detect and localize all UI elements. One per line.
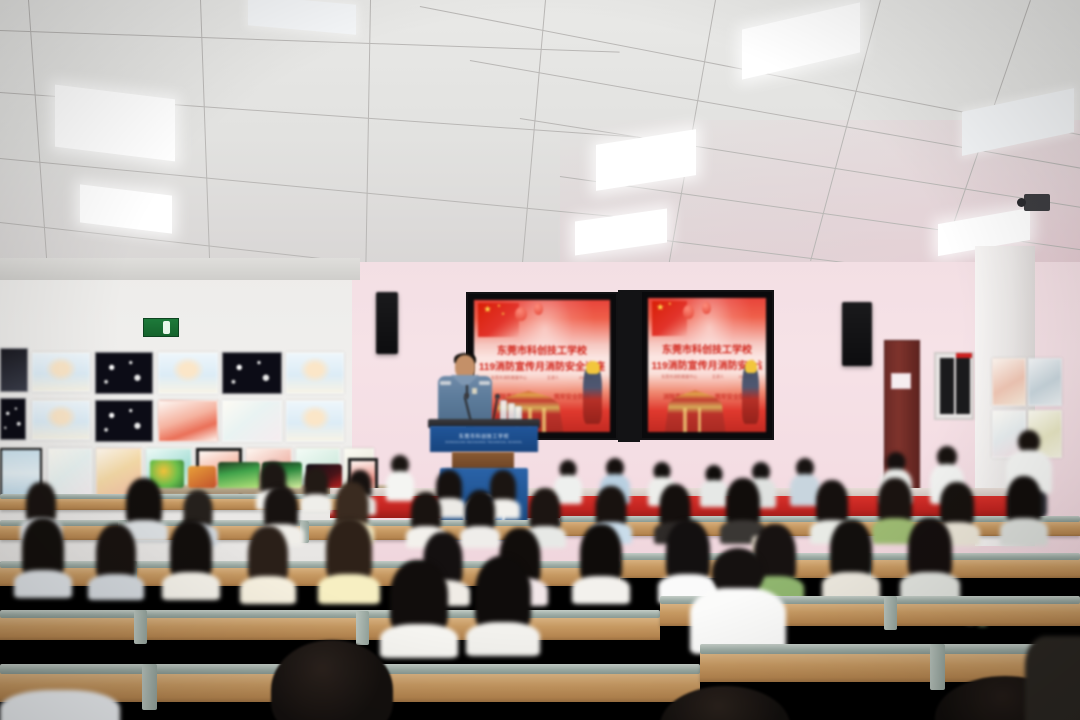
student-artwork xyxy=(222,352,282,394)
student-artwork xyxy=(95,400,153,442)
audience-member xyxy=(1000,476,1048,544)
balloon-decoration xyxy=(515,307,527,322)
torso xyxy=(466,622,540,656)
wall-speaker-right xyxy=(842,302,872,366)
student-artwork xyxy=(286,400,344,442)
ceiling-camera-icon xyxy=(1024,194,1050,211)
audience-member xyxy=(318,518,380,600)
bench-rail xyxy=(0,610,660,618)
audience-member xyxy=(466,556,540,654)
door-notice xyxy=(891,373,911,389)
left-wall-soffit xyxy=(0,258,360,280)
microphone-head xyxy=(495,394,500,399)
torso xyxy=(572,576,630,604)
slide-meta-speaker: 主讲人 xyxy=(547,375,559,381)
firefighter-helmet xyxy=(586,361,600,374)
bench-rail xyxy=(700,644,1080,654)
slide-title-line1: 东莞市科创技工学校 xyxy=(655,341,759,356)
bench-row xyxy=(0,616,660,640)
flag-star: ★ xyxy=(668,302,672,306)
torso xyxy=(1025,636,1080,720)
audience-member xyxy=(88,524,144,598)
slide-meta-org: 东莞市消防救援中心 xyxy=(661,374,697,380)
audience-member xyxy=(690,548,786,652)
cabinet-red-strip xyxy=(956,353,972,358)
student-artwork xyxy=(158,352,218,394)
flag-star: ★ xyxy=(484,305,492,314)
audience-member xyxy=(822,520,880,600)
slide-title-line1: 东莞市科创技工学校 xyxy=(482,342,602,357)
presenter xyxy=(438,355,492,425)
flag-star: ★ xyxy=(497,304,501,308)
audience-member-foreground xyxy=(252,640,412,720)
led-screen-right: ★ ★ 东莞市科创技工学校 119消防宣传月消防安全讲座 东莞市消防救援中心 主… xyxy=(640,290,774,440)
gate-column xyxy=(542,408,546,432)
slide-meta-speaker: 主讲人 xyxy=(712,374,724,380)
exit-sign xyxy=(143,318,179,337)
balloon-decoration xyxy=(534,303,544,315)
student-artwork xyxy=(0,348,28,392)
torso xyxy=(300,494,332,514)
audience-member-foreground xyxy=(0,690,120,720)
balloon-decoration xyxy=(702,302,710,314)
balloon-decoration xyxy=(683,305,694,320)
audience-member xyxy=(300,468,332,512)
presenter-badge xyxy=(472,388,477,394)
wall-poster xyxy=(1028,358,1062,406)
audience-member-foreground xyxy=(650,686,800,720)
podium-banner-subtext: DONGGUAN KECHUANG TECHNICAL SCHOOL xyxy=(430,440,538,444)
bench-post xyxy=(142,664,157,710)
screen-divider xyxy=(618,290,640,442)
head xyxy=(271,640,393,720)
audience-member xyxy=(162,520,220,598)
torso xyxy=(318,574,380,604)
student-artwork xyxy=(0,398,26,440)
student-artwork xyxy=(32,400,90,440)
torso xyxy=(1000,518,1048,546)
wall-poster xyxy=(992,358,1026,406)
student-artwork xyxy=(95,352,153,394)
audience-member xyxy=(14,518,72,596)
student-artwork xyxy=(222,400,282,442)
microphone-head xyxy=(464,393,469,398)
flag-star: ★ xyxy=(656,303,664,312)
student-artwork xyxy=(32,352,90,392)
presentation-slide-right: ★ ★ 东莞市科创技工学校 119消防宣传月消防安全讲座 东莞市消防救援中心 主… xyxy=(648,298,766,432)
bench-post xyxy=(134,610,147,644)
head xyxy=(660,686,790,720)
torso xyxy=(0,690,120,720)
audience-member xyxy=(240,526,296,602)
craft-model xyxy=(218,462,260,488)
podium-upper-panel: 东莞市科创技工学校 DONGGUAN KECHUANG TECHNICAL SC… xyxy=(430,426,538,452)
torso xyxy=(88,574,144,600)
wall-speaker-left xyxy=(376,292,398,354)
bench-post xyxy=(884,596,897,630)
firefighter-helmet xyxy=(745,360,757,373)
craft-model xyxy=(188,466,216,488)
torso xyxy=(162,572,220,600)
audience-member xyxy=(900,518,960,600)
gate-column xyxy=(698,408,702,432)
presenter-epaulette xyxy=(479,381,490,385)
audience-member xyxy=(572,524,630,602)
audience-member-foreground xyxy=(1030,636,1080,720)
torso xyxy=(14,570,72,598)
fire-hose-cabinet[interactable] xyxy=(934,352,974,420)
slide-meta-org: 东莞市消防救援中心 xyxy=(491,375,527,381)
torso xyxy=(240,576,296,604)
podium-banner-text: 东莞市科创技工学校 xyxy=(430,433,538,440)
flag-star: ★ xyxy=(501,312,505,316)
student-artwork xyxy=(286,352,344,394)
gate-column xyxy=(683,408,687,432)
presenter-epaulette xyxy=(440,381,451,385)
student-artwork xyxy=(158,400,218,442)
auditorium-scene: ★ ★ ★ 东莞市科创技工学校 119消防宣传月消防安全讲座 东莞市消防救援中心… xyxy=(0,0,1080,720)
